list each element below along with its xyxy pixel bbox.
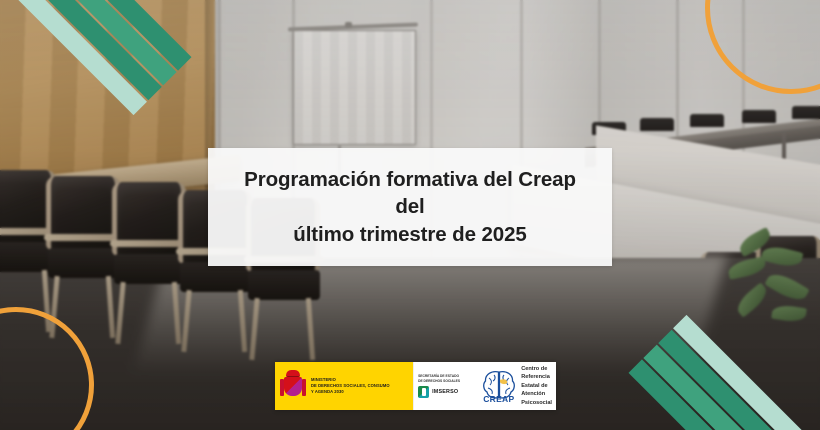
banner-hero: Programación formativa del Creap del últ… xyxy=(0,0,820,430)
creap-wordmark: CREAP xyxy=(483,394,514,404)
creap-desc-line-5: Psicosocial xyxy=(521,399,552,408)
imserso-wordmark: IMSERSO xyxy=(432,389,458,395)
creap-desc-line-1: Centro de xyxy=(521,365,552,374)
creap-description: Centro de Referencia Estatal de Atención… xyxy=(521,365,552,408)
ministry-logo: MINISTERIO DE DERECHOS SOCIALES, CONSUMO… xyxy=(275,362,413,410)
creap-desc-line-3: Estatal de xyxy=(521,382,552,391)
creap-desc-line-2: Referencia xyxy=(521,373,552,382)
ministry-logo-text: MINISTERIO DE DERECHOS SOCIALES, CONSUMO… xyxy=(311,377,390,395)
page-title-line-1: Programación formativa del Creap del xyxy=(244,168,576,218)
creap-desc-line-4: Atención xyxy=(521,390,552,399)
imserso-icon xyxy=(418,386,429,398)
page-title-line-2: último trimestre de 2025 xyxy=(293,223,526,246)
secretaria-text: SECRETARÍA DE ESTADO DE DERECHOS SOCIALE… xyxy=(418,374,473,384)
institutional-logo-bar: MINISTERIO DE DERECHOS SOCIALES, CONSUMO… xyxy=(275,362,556,410)
title-card: Programación formativa del Creap del últ… xyxy=(208,148,612,266)
secretaria-line-2: DE DERECHOS SOCIALES xyxy=(418,379,473,384)
ministry-line-3: Y AGENDA 2030 xyxy=(311,389,390,395)
creap-logo: CREAP Centro de Referencia Estatal de At… xyxy=(477,362,556,410)
brain-icon: CREAP xyxy=(481,369,517,403)
spain-coat-of-arms-icon xyxy=(280,370,306,403)
page-title: Programación formativa del Creap del últ… xyxy=(234,166,586,248)
secretaria-imserso-logo: SECRETARÍA DE ESTADO DE DERECHOS SOCIALE… xyxy=(413,362,477,410)
imserso-row: IMSERSO xyxy=(418,386,473,398)
